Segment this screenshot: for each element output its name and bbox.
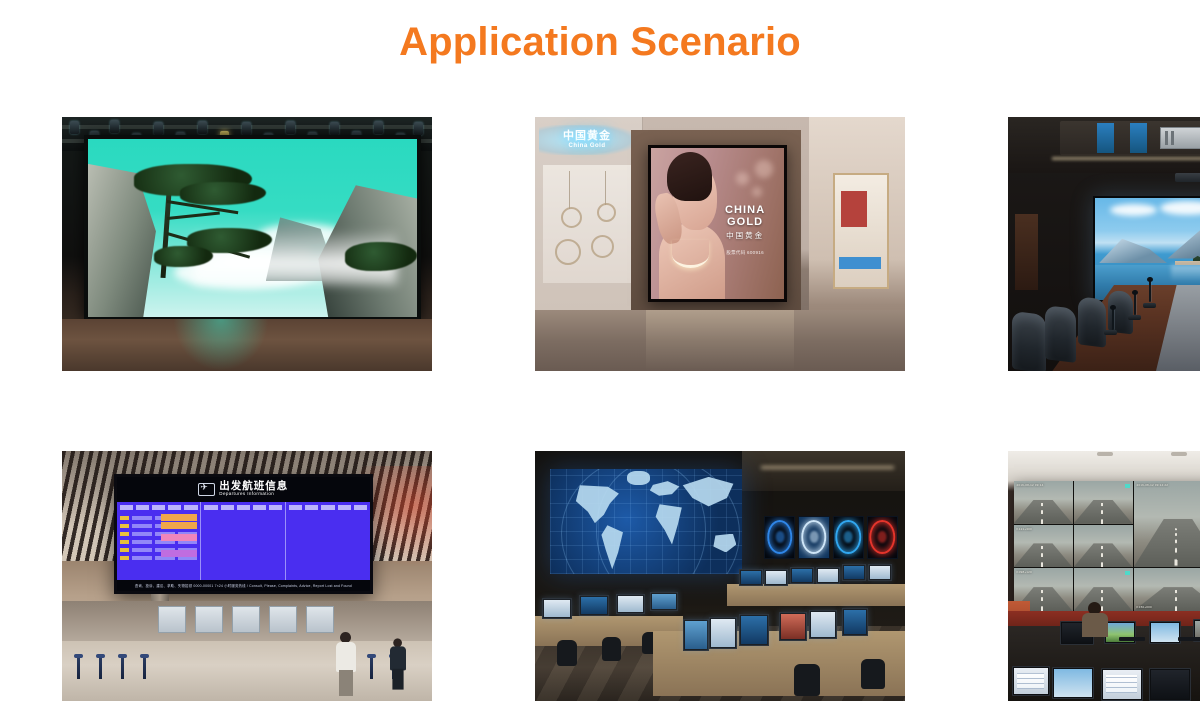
scenario-image-stage-led-wall[interactable]: Indoor stage LED video wall showing Huan… (62, 117, 432, 371)
desk-monitor (1052, 667, 1094, 699)
flight-information-display[interactable]: 出发航班信息 Departures Information (114, 474, 373, 594)
conference-microphone (1134, 293, 1136, 315)
fids-title-cn: 出发航班信息 (219, 481, 288, 492)
fids-column (201, 502, 286, 581)
radar-panel (867, 516, 898, 559)
operator-chair (794, 664, 820, 696)
operator-monitor (739, 569, 763, 586)
stage-led-scene (62, 117, 432, 371)
conference-microphone (1112, 308, 1114, 330)
gallery-row-top: Indoor stage LED video wall showing Huan… (22, 101, 1178, 387)
airplane-icon (198, 483, 215, 496)
operator-monitor (764, 569, 788, 586)
retail-scene: 中国黄金 China Gold CHI (535, 117, 905, 371)
scenario-image-traffic-monitoring-center[interactable]: 2016-08-12 09:14 2016-08-12 09:14:22 201… (1008, 451, 1200, 701)
camera-feed (1074, 525, 1133, 568)
ceiling-ac-vent (1160, 127, 1200, 149)
scenario-image-conference-room-led[interactable]: Boardroom with fine-pitch LED video wall… (1008, 117, 1200, 371)
operator-monitor (650, 592, 678, 611)
operator-monitor (868, 564, 892, 581)
operator-monitor (842, 608, 868, 636)
jewelry-poster (543, 165, 635, 283)
airport-scene: 出发航班信息 Departures Information (62, 451, 432, 701)
fids-footer-ticker: 咨询、投诉、建议、求助、失物招领 0000-00001 7×24 小时服务热线 … (117, 580, 370, 590)
operator-monitor (579, 595, 609, 616)
store-sign-label-cn: 中国黄金 (563, 131, 611, 143)
operator-monitor (816, 567, 840, 584)
retail-ad-content: CHINA GOLD 中国黄金 股票代码 600916 (651, 148, 784, 299)
operator-monitor (616, 594, 645, 614)
operator-monitor (809, 610, 837, 639)
camera-feed (1074, 481, 1133, 524)
flight-status-badge (161, 534, 197, 541)
camera-feed-large: 2016-08-12 09:14:22 (1134, 481, 1200, 567)
ad-brand-en: CHINA GOLD (713, 204, 777, 228)
operator-monitor (739, 614, 769, 646)
world-map-led-wall (550, 469, 742, 574)
scenario-image-airport-departures-board[interactable]: 出发航班信息 Departures Information (62, 451, 432, 701)
airport-floor (62, 641, 432, 701)
fids-column (286, 502, 370, 581)
gallery-row-bottom: 出发航班信息 Departures Information (22, 435, 1178, 717)
operator-monitor (709, 617, 737, 649)
operator-monitor (683, 619, 709, 651)
retail-floor-reflection (646, 310, 794, 371)
ad-brand-cn: 中国黄金 (713, 230, 777, 241)
scenario-image-command-control-center[interactable]: Control room with large world map LED vi… (535, 451, 905, 701)
boardroom-ceiling (1008, 117, 1200, 173)
boardroom-scene (1008, 117, 1200, 371)
fids-column (117, 502, 202, 581)
camera-feed: K121+300 (1014, 525, 1073, 568)
scenario-image-retail-led-display[interactable]: 中国黄金 China Gold CHI (535, 117, 905, 371)
surveillance-video-wall: 2016-08-12 09:14 2016-08-12 09:14:22 201… (1014, 481, 1200, 611)
staff-figure (390, 638, 406, 689)
operator-monitor (842, 564, 866, 581)
camera-feed: 2016-08-12 09:14 (1014, 481, 1073, 524)
scenario-gallery: Indoor stage LED video wall showing Huan… (22, 101, 1178, 717)
stage-floor-reflection (173, 319, 269, 371)
desk-monitor (1101, 668, 1143, 701)
fids-flight-table (117, 502, 370, 581)
flight-status-badge (161, 522, 197, 529)
ad-stock-code: 股票代码 600916 (713, 250, 777, 256)
retail-ad-text: CHINA GOLD 中国黄金 股票代码 600916 (713, 204, 777, 256)
radar-panel (764, 516, 795, 559)
radar-display-strip (764, 516, 897, 559)
boardroom-door (1015, 214, 1037, 290)
operator-chair (602, 637, 621, 661)
store-sign: 中国黄金 China Gold (539, 125, 635, 155)
radar-panel (798, 516, 829, 559)
operator-chair (557, 640, 577, 666)
retail-led-screen: CHINA GOLD 中国黄金 股票代码 600916 (648, 145, 787, 302)
traveller-figure (336, 632, 356, 696)
control-center-scene (535, 451, 905, 701)
flight-status-badge (161, 550, 197, 557)
store-sign-label-en: China Gold (569, 143, 606, 149)
desk-monitor (1012, 666, 1050, 696)
flight-status-badge (161, 514, 197, 521)
operator-monitor (542, 598, 572, 619)
workstation-row-back (727, 584, 905, 607)
ceiling-projector (1175, 173, 1200, 182)
operator-figure (1082, 602, 1108, 636)
traffic-ceiling (1008, 451, 1200, 481)
jewelry-showcase (833, 173, 889, 289)
operator-chair (861, 659, 885, 689)
fids-header: 出发航班信息 Departures Information (117, 477, 370, 502)
page-title: Application Scenario (0, 0, 1200, 66)
stage-led-screen (84, 135, 421, 321)
camera-feed: K150+000 (1134, 568, 1200, 611)
traffic-center-scene: 2016-08-12 09:14 2016-08-12 09:14:22 201… (1008, 451, 1200, 701)
stage-screen-content (88, 139, 417, 317)
radar-panel (833, 516, 864, 559)
conference-microphone (1149, 280, 1151, 302)
operator-monitor (1149, 621, 1181, 644)
desk-monitor (1149, 668, 1191, 701)
fids-title-en: Departures Information (219, 491, 288, 497)
operator-monitor (790, 567, 814, 584)
operator-monitor (779, 612, 807, 641)
